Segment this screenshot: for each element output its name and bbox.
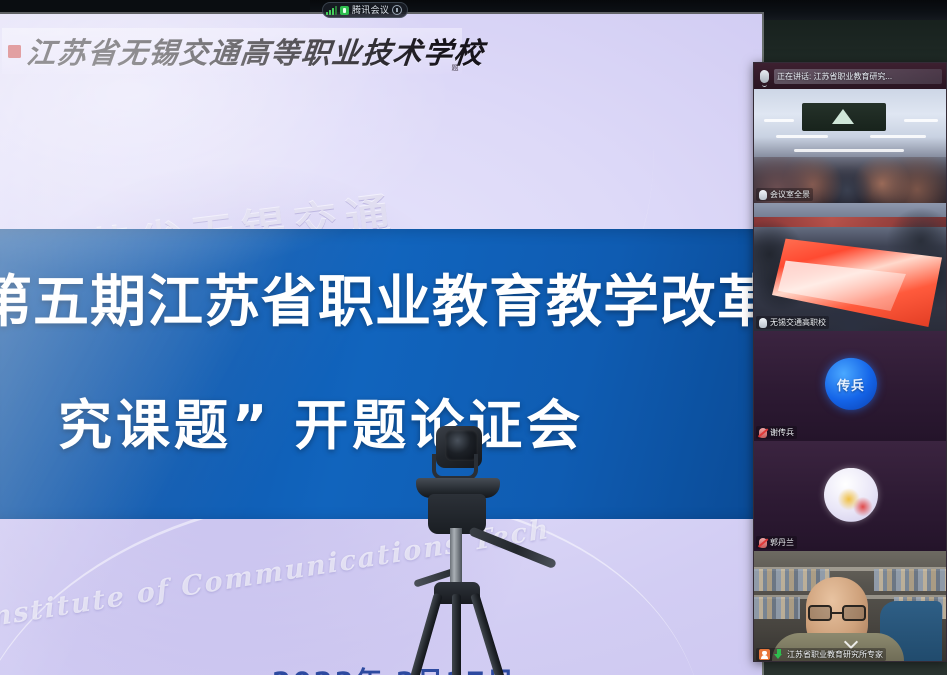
video-participant-sidebar[interactable]: 正在讲话: 江苏省职业教育研究... 会议室全景 — [753, 62, 947, 662]
screenshot-root: 江苏省无锡交通 Institute of Communications Tech… — [0, 0, 947, 675]
microphone-icon — [759, 190, 767, 200]
ceiling-bar-left — [0, 0, 310, 14]
bookshelf-books — [874, 569, 947, 591]
ceiling-light — [776, 135, 828, 138]
participant-tile-5[interactable]: 江苏省职业教育研究所专家 — [754, 551, 947, 662]
signal-bars-icon — [326, 6, 337, 15]
recording-badge-icon — [340, 6, 349, 15]
host-avatar-icon — [759, 649, 770, 660]
school-calligraphy-band: 江苏省无锡交通高等职业技术学校 题 — [2, 28, 462, 74]
participant-video-1 — [754, 89, 947, 203]
participant-name-2: 无锡交通高职校 — [770, 317, 826, 328]
more-options-icon[interactable] — [392, 5, 402, 15]
tencent-meeting-status-pill[interactable]: 腾讯会议 — [322, 2, 408, 18]
participant-name-3: 谢传兵 — [770, 427, 794, 438]
participant-tile-1[interactable]: 会议室全景 — [754, 89, 947, 203]
active-speaker-name: 正在讲话: 江苏省职业教育研究... — [777, 71, 892, 82]
tripod-center-column — [450, 528, 462, 590]
meeting-title-banner: 第五期江苏省职业教育教学改革 究课题” 开题论证会 — [0, 229, 762, 519]
download-arrow-icon — [773, 649, 784, 660]
active-speaker-name-chip: 正在讲话: 江苏省职业教育研究... — [774, 69, 942, 84]
participant-video-5 — [754, 551, 947, 662]
avatar — [824, 468, 878, 522]
microphone-icon — [760, 70, 769, 83]
participant-tile-4[interactable]: 郭丹兰 — [754, 441, 947, 551]
tripod-leg-left — [405, 593, 443, 675]
participant-label-4: 郭丹兰 — [756, 536, 797, 549]
participant-name-5: 江苏省职业教育研究所专家 — [787, 649, 883, 660]
participant-name-4: 郭丹兰 — [770, 537, 794, 548]
participant-video-2 — [754, 203, 947, 331]
projection-screen: 江苏省无锡交通 Institute of Communications Tech… — [0, 14, 762, 675]
camera-yoke — [432, 454, 478, 480]
participant-label-3: 谢传兵 — [756, 426, 797, 439]
ceiling-light — [764, 119, 794, 122]
avatar-initials: 传兵 — [837, 374, 865, 393]
avatar: 传兵 — [825, 358, 877, 410]
tripod-leg-center — [452, 594, 461, 675]
participant-tile-2[interactable]: 无锡交通高职校 — [754, 203, 947, 331]
school-name-calligraphy: 江苏省无锡交通高等职业技术学校 — [25, 30, 487, 72]
participant-video-4 — [754, 441, 947, 551]
participant-video-3: 传兵 — [754, 331, 947, 441]
projector-screen-in-room — [802, 103, 886, 131]
chevron-down-icon[interactable] — [845, 635, 857, 647]
bookshelf-books — [754, 597, 800, 619]
participant-label-2: 无锡交通高职校 — [756, 316, 829, 329]
eyeglasses — [806, 605, 868, 621]
ceiling-light — [794, 149, 904, 152]
microphone-icon — [759, 318, 767, 328]
participant-label-1: 会议室全景 — [756, 188, 813, 201]
microphone-muted-icon — [759, 428, 767, 438]
calligraphy-side-note: 题 — [451, 64, 458, 71]
camera-tripod-rig — [398, 424, 588, 675]
meeting-app-label: 腾讯会议 — [352, 6, 389, 15]
meeting-title-line-1: 第五期江苏省职业教育教学改革 — [0, 257, 762, 338]
active-speaker-strip[interactable]: 正在讲话: 江苏省职业教育研究... — [754, 63, 947, 89]
ceiling-light — [870, 135, 926, 138]
seal-stamp-icon — [8, 45, 21, 58]
ceiling-light — [904, 119, 938, 122]
participant-tile-3[interactable]: 传兵 谢传兵 — [754, 331, 947, 441]
microphone-muted-icon — [759, 538, 767, 548]
participant-name-1: 会议室全景 — [770, 189, 810, 200]
tripod-pan-handle — [468, 526, 557, 569]
participant-label-5: 江苏省职业教育研究所专家 — [756, 648, 886, 661]
tripod-leg-right — [470, 593, 510, 675]
